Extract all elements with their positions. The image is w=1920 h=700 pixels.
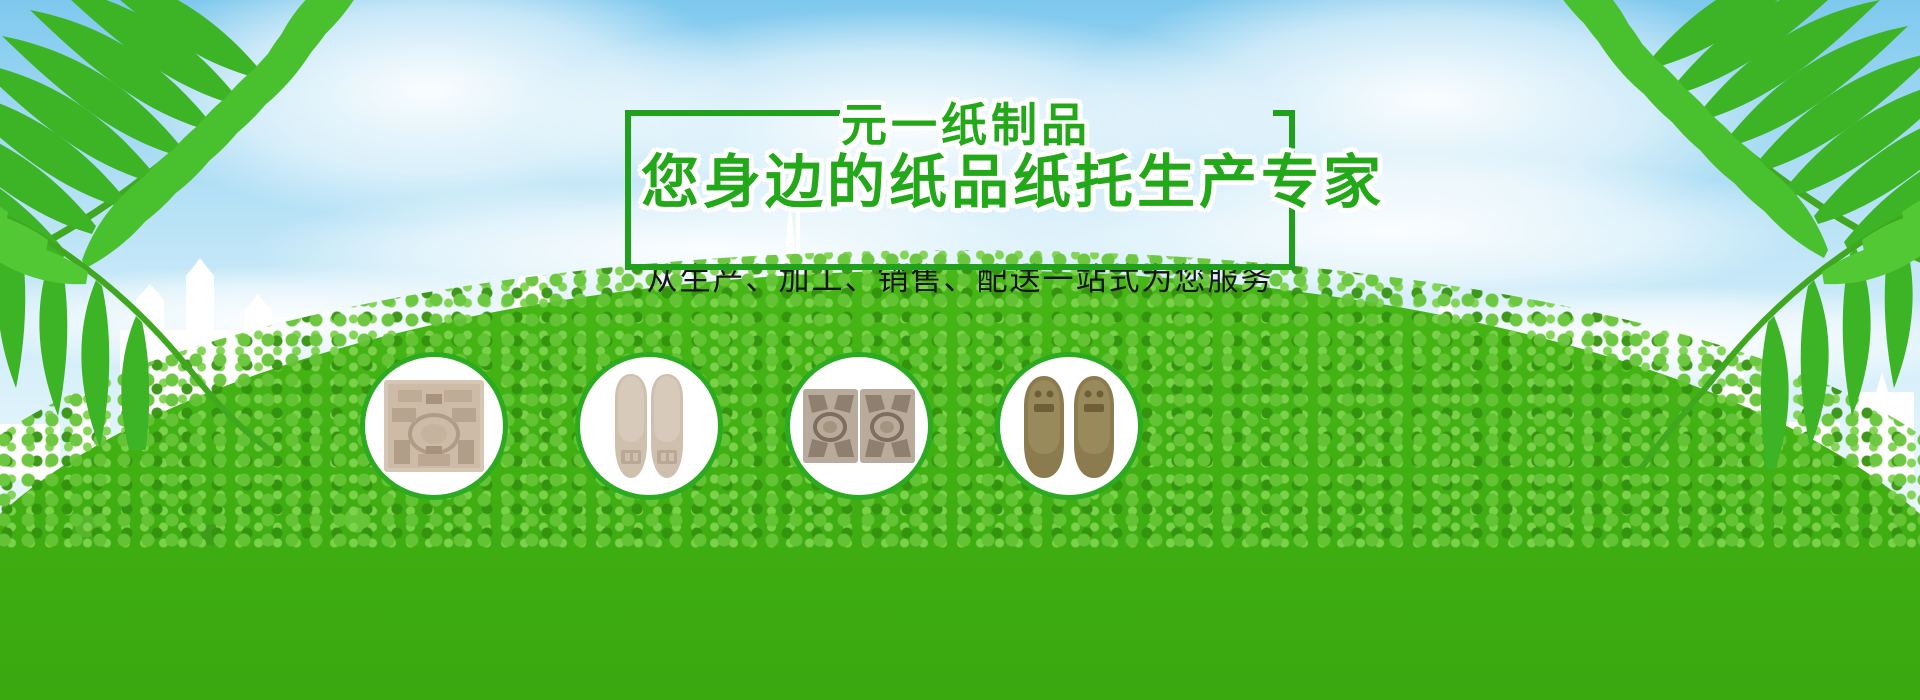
molded-pulp-dark-shoe-forms-icon [1020,370,1118,482]
frame-left-rule [625,110,631,270]
molded-pulp-square-tray-icon [382,378,486,474]
sub-headline: 从生产、加工、销售、配送一站式为您服务 [0,254,1920,299]
frame-bottom-rule [625,264,1295,270]
molded-pulp-paired-inserts-icon [802,387,916,465]
headline-line-1: 元一纸制品 [641,102,1279,148]
headline-frame: 元一纸制品 您身边的纸品纸托生产专家 [615,88,1305,228]
product-circle-3[interactable] [785,352,933,500]
promo-banner: 元一纸制品 您身边的纸品纸托生产专家 从生产、加工、销售、配送一站式为您服务 [0,0,1920,700]
molded-pulp-shoe-trees-pair-icon [601,366,697,486]
product-circle-2[interactable] [575,352,723,500]
product-circle-1[interactable] [360,352,508,500]
headline-line-2: 您身边的纸品纸托生产专家 [641,154,1279,212]
product-circle-row [0,352,1920,512]
headline-block: 元一纸制品 您身边的纸品纸托生产专家 从生产、加工、销售、配送一站式为您服务 [0,88,1920,299]
product-circle-4[interactable] [995,352,1143,500]
